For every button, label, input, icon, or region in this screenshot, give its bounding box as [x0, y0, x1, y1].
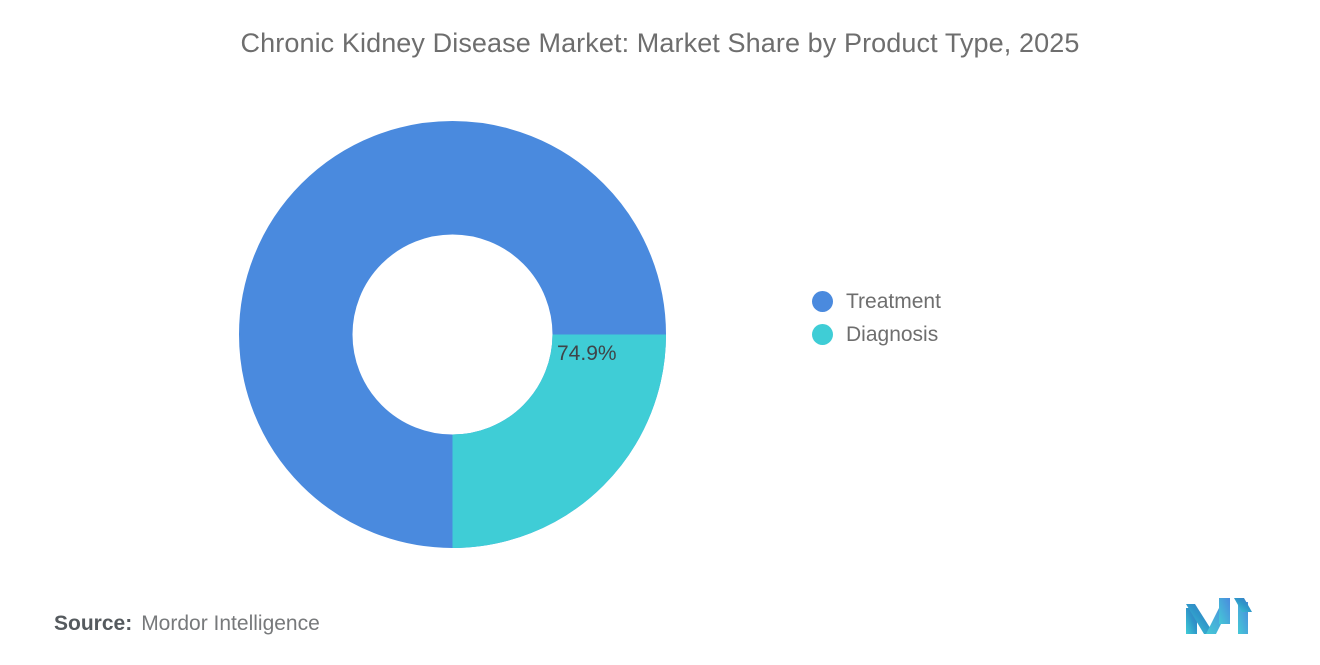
source-value: Mordor Intelligence: [141, 612, 320, 636]
legend-item-treatment[interactable]: Treatment: [812, 285, 941, 318]
legend-swatch-icon-treatment: [812, 291, 833, 312]
chart-legend: Treatment Diagnosis: [812, 285, 941, 351]
mordor-intelligence-logo-icon: [1186, 598, 1252, 634]
donut-chart: 74.9%: [239, 121, 666, 548]
logo-svg: [1186, 598, 1252, 634]
source-attribution: Source: Mordor Intelligence: [54, 612, 320, 636]
legend-swatch-icon-diagnosis: [812, 324, 833, 345]
legend-label-treatment: Treatment: [846, 290, 941, 314]
donut-chart-svg: [239, 121, 666, 548]
legend-item-diagnosis[interactable]: Diagnosis: [812, 318, 941, 351]
slice-label-treatment: 74.9%: [557, 342, 617, 366]
page-title: Chronic Kidney Disease Market: Market Sh…: [0, 28, 1320, 59]
source-label: Source:: [54, 612, 132, 636]
legend-label-diagnosis: Diagnosis: [846, 323, 938, 347]
